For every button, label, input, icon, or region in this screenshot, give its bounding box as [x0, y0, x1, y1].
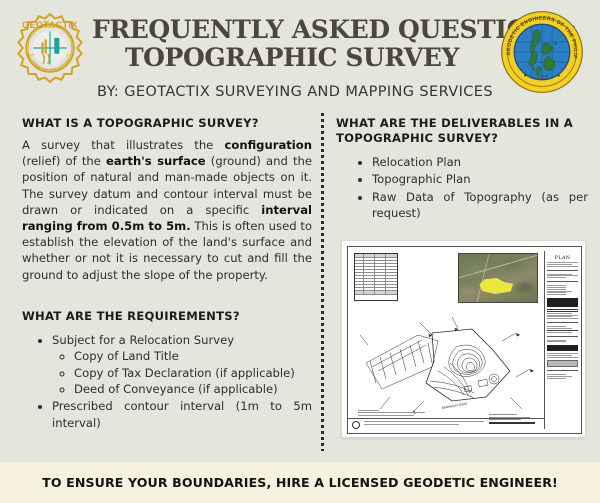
page-title: FREQUENTLY ASKED QUESTIONS: TOPOGRAPHIC …: [92, 16, 492, 72]
section-heading-what-is-topographic-survey: WHAT IS A TOPOGRAPHIC SURVEY?: [22, 116, 312, 130]
plan-data-table: [354, 253, 398, 301]
requirement-label: Subject for a Relocation Survey: [52, 333, 234, 347]
para-part-0: A survey that illustrates the: [22, 138, 224, 152]
plan-seal-icon: [352, 421, 360, 429]
requirements-list: Subject for a Relocation Survey Copy of …: [52, 332, 312, 431]
requirements-sublist: Copy of Land Title Copy of Tax Declarati…: [74, 348, 312, 397]
para-part-2: (relief) of the: [22, 154, 106, 168]
svg-text:EST: EST: [28, 54, 34, 58]
list-item: Relocation Plan: [372, 154, 588, 170]
geotactix-wordmark: GEOTACTIX: [22, 20, 78, 30]
list-item: Copy of Land Title: [74, 348, 312, 364]
list-item: Subject for a Relocation Survey Copy of …: [52, 332, 312, 398]
deliverables-list: Relocation Plan Topographic Plan Raw Dat…: [372, 154, 588, 222]
contour-lot-drawing: BARANGAY ROAD: [360, 305, 538, 423]
topographic-plan-drawing: PLAN: [341, 240, 586, 438]
geodetic-engineers-philippines-logo: 1975 GEODETIC ENGINEERS OF THE PHILIPPIN…: [500, 10, 584, 94]
right-column: WHAT ARE THE DELIVERABLES IN A TOPOGRAPH…: [336, 116, 588, 223]
satellite-inset-photo: [458, 253, 538, 303]
section-spacer: [22, 283, 312, 309]
list-item: Topographic Plan: [372, 171, 588, 187]
list-item: Prescribed contour interval (1m to 5m in…: [52, 398, 312, 431]
section-heading-requirements: WHAT ARE THE REQUIREMENTS?: [22, 309, 312, 323]
faq-poster: GEOTACTIX EST 2019 SURVEYING AND MAPPING…: [0, 0, 600, 503]
section-heading-deliverables-line1: WHAT ARE THE DELIVERABLES IN A: [336, 116, 588, 130]
topographic-survey-description: A survey that illustrates the configurat…: [22, 137, 312, 283]
left-column: WHAT IS A TOPOGRAPHIC SURVEY? A survey t…: [22, 116, 312, 432]
footer-message: TO ENSURE YOUR BOUNDARIES, HIRE A LICENS…: [42, 475, 558, 490]
plan-title-block: PLAN: [544, 251, 580, 429]
section-heading-deliverables-line2: TOPOGRAPHIC SURVEY?: [336, 131, 588, 145]
logo-year: 1975: [536, 75, 547, 81]
title-line-1: FREQUENTLY ASKED QUESTIONS:: [92, 16, 492, 44]
plan-sheet: PLAN: [347, 246, 582, 434]
para-part-3: earth's surface: [106, 154, 206, 168]
poster-header: GEOTACTIX EST 2019 SURVEYING AND MAPPING…: [0, 0, 600, 112]
plan-footer-bar: [348, 418, 544, 428]
list-item: Copy of Tax Declaration (if applicable): [74, 365, 312, 381]
list-item: Deed of Conveyance (if applicable): [74, 381, 312, 397]
drawing-annotation: BARANGAY ROAD: [441, 401, 468, 410]
plan-notes: [358, 410, 428, 417]
footer-banner: TO ENSURE YOUR BOUNDARIES, HIRE A LICENS…: [0, 462, 600, 503]
road-line: [458, 253, 538, 279]
table-row: [355, 291, 397, 295]
highlighted-parcel: [479, 278, 513, 294]
plan-title-label: PLAN: [547, 255, 578, 261]
road-line: [475, 253, 491, 303]
geotactix-logo: GEOTACTIX EST 2019 SURVEYING AND MAPPING…: [14, 12, 86, 84]
list-item: Raw Data of Topography (as per request): [372, 189, 588, 222]
title-line-2: TOPOGRAPHIC SURVEY: [92, 44, 492, 72]
column-divider: [321, 113, 324, 451]
page-subtitle: BY: GEOTACTIX SURVEYING AND MAPPING SERV…: [60, 84, 530, 100]
para-part-1: configuration: [224, 138, 312, 152]
